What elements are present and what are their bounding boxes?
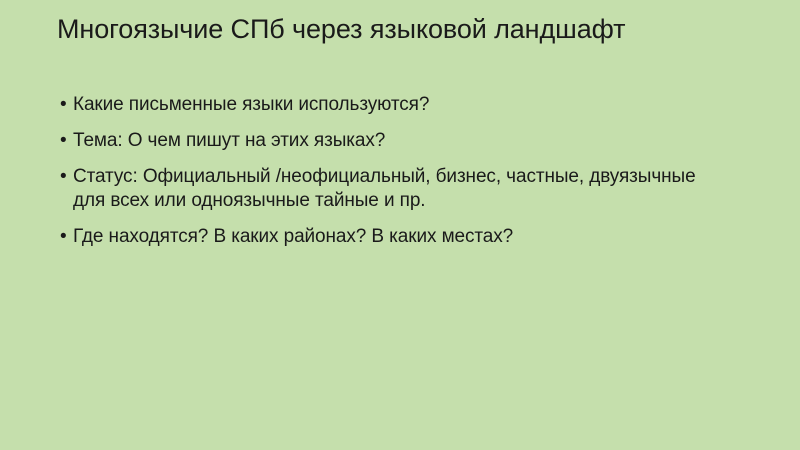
list-item: • Где находятся? В каких районах? В каки… [58,225,708,249]
list-item-label: Тема: О чем пишут на этих языках? [73,129,708,153]
bullet-icon: • [60,93,67,117]
list-item: • Тема: О чем пишут на этих языках? [58,129,708,153]
bullet-icon: • [60,129,67,153]
slide-title: Многоязычие СПб через языковой ландшафт [57,14,627,45]
slide-canvas: Многоязычие СПб через языковой ландшафт … [0,0,800,450]
list-item-label: Где находятся? В каких районах? В каких … [73,225,708,249]
bullet-icon: • [60,225,67,249]
list-item-label: Какие письменные языки используются? [73,93,708,117]
list-item: • Какие письменные языки используются? [58,93,708,117]
list-item-label: Статус: Официальный /неофициальный, бизн… [73,165,708,213]
list-item: • Статус: Официальный /неофициальный, би… [58,165,708,213]
bullet-icon: • [60,165,67,189]
slide-body-placeholder: • Какие письменные языки используются? •… [58,93,708,249]
